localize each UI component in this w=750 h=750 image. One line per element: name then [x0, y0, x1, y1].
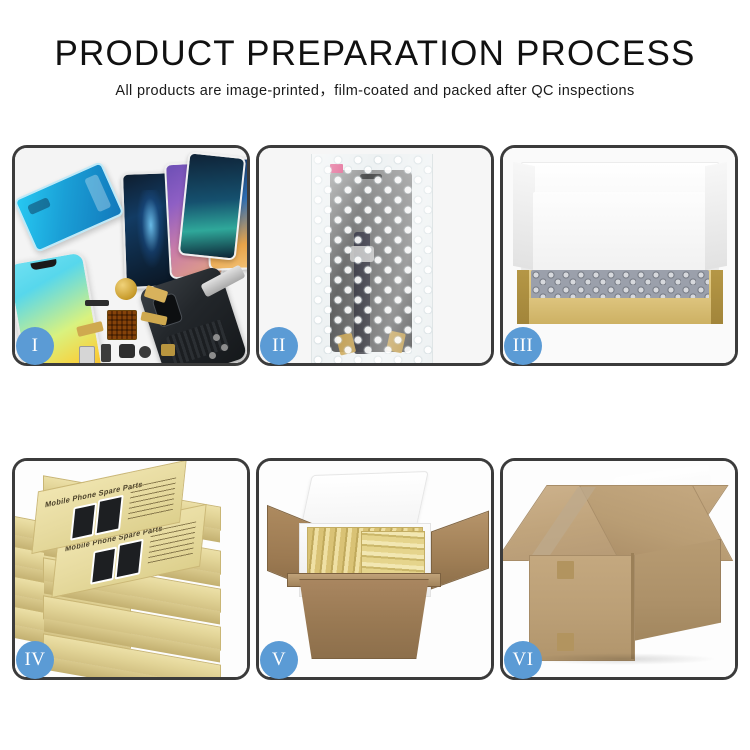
process-step-1: I [12, 145, 250, 366]
step-3-image [503, 148, 735, 363]
step-2-image [259, 148, 491, 363]
process-step-5: V [256, 458, 494, 680]
process-step-grid: I II [12, 145, 738, 680]
page-subtitle: All products are image-printed，film-coat… [0, 81, 750, 101]
carton-front-panel [287, 579, 441, 659]
spare-part-sim-tray [79, 346, 95, 363]
spare-part-screw-3 [213, 334, 220, 341]
carton-corner-seam [631, 553, 634, 659]
white-foam-sheet [533, 192, 705, 280]
step-6-image [503, 461, 735, 677]
photo-sealed-shipping-carton [503, 461, 735, 677]
photo-lcd-wrapped-in-bubble-wrap [259, 148, 491, 363]
step-5-image [259, 461, 491, 677]
box-lid-flap-right [705, 162, 727, 270]
retail-box-thumbnail-1-lower [90, 546, 117, 584]
photo-stack-of-retail-boxes: Mobile Phone Spare Parts Mobile Phone Sp… [15, 461, 247, 677]
product-preparation-process-page: PRODUCT PREPARATION PROCESS All products… [0, 0, 750, 750]
phone-screen-teal-gradient [178, 151, 247, 260]
box-lid-flap-left [513, 162, 535, 270]
header: PRODUCT PREPARATION PROCESS All products… [0, 34, 750, 101]
carton-front-face [529, 555, 635, 661]
retail-box-thumbnail-2-upper [95, 495, 124, 536]
process-step-2: II [256, 145, 494, 366]
process-step-3: III [500, 145, 738, 366]
photo-carton-with-foam-box-of-retail-boxes [259, 461, 491, 677]
carton-ground-shadow [527, 653, 717, 665]
spare-part-screw-1 [209, 352, 216, 359]
step-badge-6: VI [504, 641, 542, 679]
spare-part-vibration-motor [115, 278, 137, 300]
step-badge-4: IV [16, 641, 54, 679]
process-step-6: VI [500, 458, 738, 680]
photo-open-kraft-box-with-foam-padding [503, 148, 735, 363]
step-1-image [15, 148, 247, 363]
spare-part-screw-2 [221, 344, 228, 351]
retail-box-thumbnail-2-lower [115, 539, 144, 580]
photo-assorted-phone-screens-and-spare-parts [15, 148, 247, 363]
kraft-box-edge-left [517, 270, 529, 324]
carton-staple-bottom [557, 633, 574, 651]
spare-part-speaker-mesh [85, 300, 109, 306]
retail-box-thumbnail-1-upper [70, 502, 97, 540]
spare-part-button [139, 346, 151, 358]
step-badge-1: I [16, 327, 54, 365]
page-title: PRODUCT PREPARATION PROCESS [0, 34, 750, 74]
bubble-wrap-bag [311, 154, 433, 363]
step-4-image: Mobile Phone Spare Parts Mobile Phone Sp… [15, 461, 247, 677]
kraft-box-front-face [517, 298, 723, 324]
step-badge-5: V [260, 641, 298, 679]
spare-part-chip-grid [107, 310, 137, 340]
step-badge-3: III [504, 327, 542, 365]
kraft-box-edge-right [711, 270, 723, 324]
spare-part-connector-1 [101, 344, 111, 362]
carton-staple-top [557, 561, 574, 579]
plastic-sheen [312, 154, 432, 363]
spare-part-gold-contact [161, 344, 175, 356]
process-step-4: Mobile Phone Spare Parts Mobile Phone Sp… [12, 458, 250, 680]
step-badge-2: II [260, 327, 298, 365]
spare-part-connector-2 [119, 344, 135, 358]
